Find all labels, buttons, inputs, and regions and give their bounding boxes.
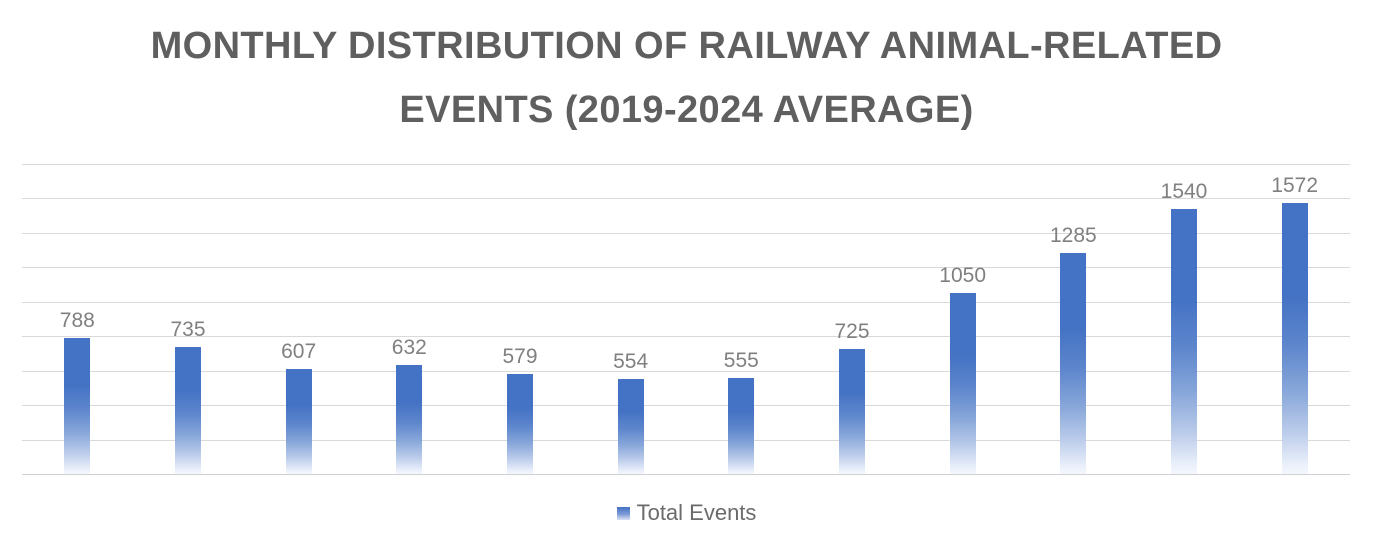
bar-group: 1285 [1060, 164, 1086, 474]
chart-legend: Total Events [0, 500, 1373, 526]
bar[interactable] [950, 293, 976, 474]
bar-data-label: 735 [170, 318, 205, 342]
legend-color-swatch-icon [617, 507, 630, 520]
bar[interactable] [175, 347, 201, 474]
bar-data-label: 1050 [939, 264, 986, 288]
bar-data-label: 554 [613, 350, 648, 374]
bar-data-label: 788 [60, 309, 95, 333]
bar-group: 1572 [1282, 164, 1308, 474]
bar-chart: MONTHLY DISTRIBUTION OF RAILWAY ANIMAL-R… [0, 0, 1373, 547]
bars-layer: 7887356076325795545557251050128515401572 [22, 164, 1350, 474]
bar-data-label: 1540 [1161, 180, 1208, 204]
bar-data-label: 607 [281, 340, 316, 364]
bar-group: 579 [507, 164, 533, 474]
bar[interactable] [286, 369, 312, 474]
bar[interactable] [1060, 253, 1086, 474]
bar-data-label: 555 [724, 349, 759, 373]
bar[interactable] [1171, 209, 1197, 474]
bar-data-label: 579 [502, 345, 537, 369]
axis-baseline [22, 474, 1350, 475]
bar-group: 607 [286, 164, 312, 474]
bar-group: 725 [839, 164, 865, 474]
bar-group: 1540 [1171, 164, 1197, 474]
bar-group: 554 [618, 164, 644, 474]
bar-data-label: 1285 [1050, 224, 1097, 248]
bar[interactable] [507, 374, 533, 474]
bar-group: 632 [396, 164, 422, 474]
bar[interactable] [396, 365, 422, 474]
bar-data-label: 1572 [1271, 174, 1318, 198]
chart-title: MONTHLY DISTRIBUTION OF RAILWAY ANIMAL-R… [0, 14, 1373, 142]
bar-group: 1050 [950, 164, 976, 474]
bar-data-label: 725 [834, 320, 869, 344]
legend-series-label: Total Events [637, 500, 757, 526]
bar-group: 735 [175, 164, 201, 474]
bar-group: 555 [728, 164, 754, 474]
bar[interactable] [64, 338, 90, 474]
bar[interactable] [728, 378, 754, 474]
bar[interactable] [1282, 203, 1308, 474]
bar[interactable] [839, 349, 865, 474]
bar[interactable] [618, 379, 644, 474]
bar-data-label: 632 [392, 336, 427, 360]
bar-group: 788 [64, 164, 90, 474]
